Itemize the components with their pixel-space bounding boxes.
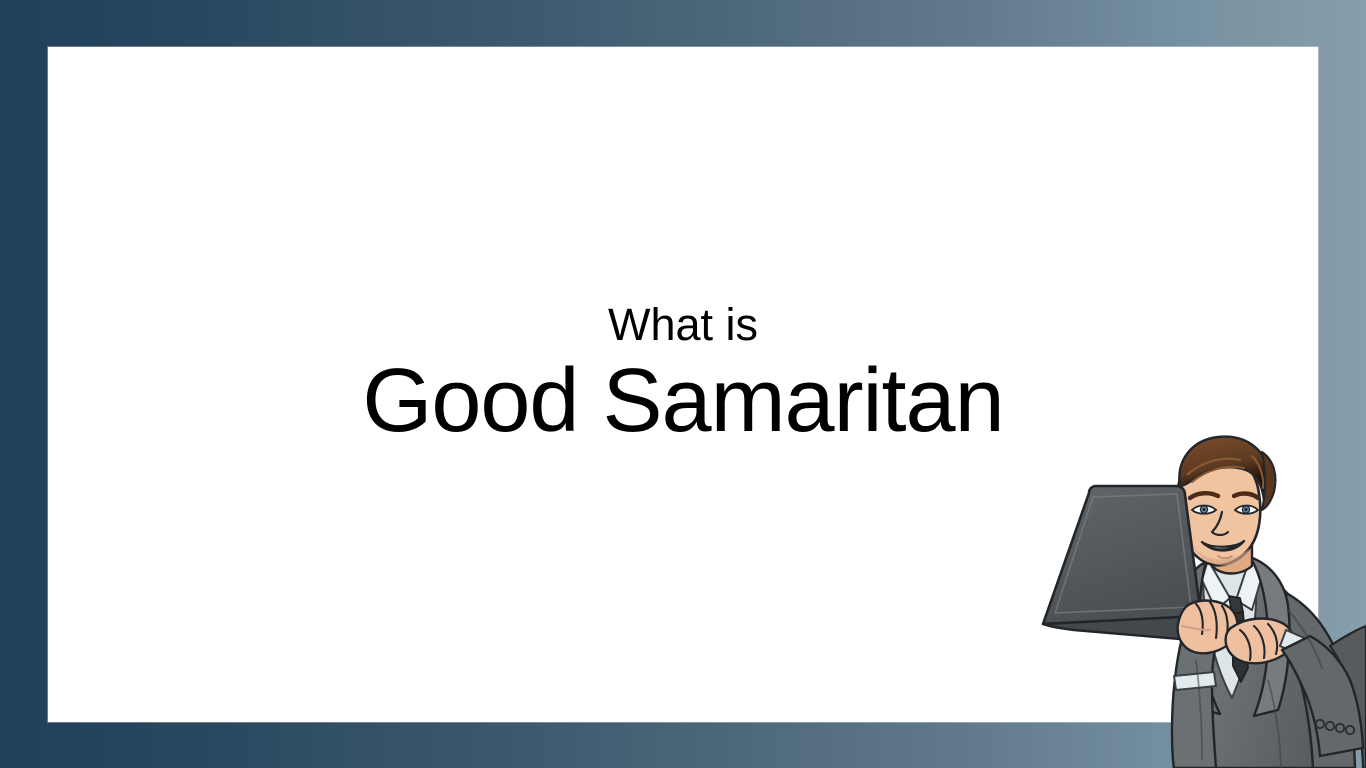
title-block: What is Good Samaritan	[48, 299, 1318, 449]
slide-canvas: What is Good Samaritan	[0, 0, 1366, 768]
page-title: Good Samaritan	[48, 353, 1318, 449]
content-panel: What is Good Samaritan	[48, 47, 1318, 722]
eyebrow-text: What is	[48, 299, 1318, 351]
sleeve-buttons	[1316, 720, 1354, 734]
